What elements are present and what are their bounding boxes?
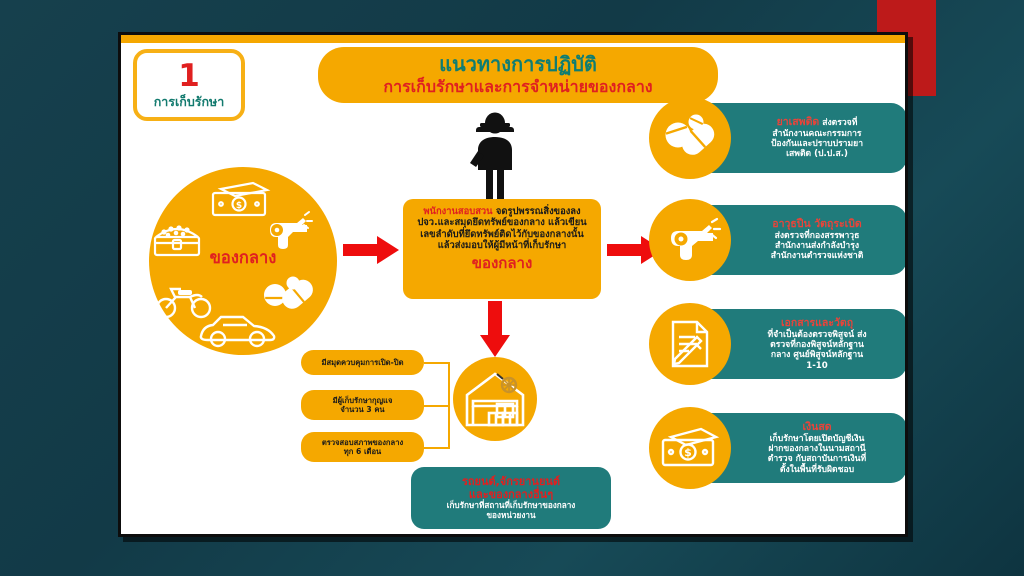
vehicles-storage-line-2: ของหน่วยงาน [486,511,535,521]
category-narcotics-head: ยาเสพติด ส่งตรวจที่ [777,116,858,129]
vehicles-storage-box: รถยนต์,จักรยานยนต์ และของกลางอื่นๆ เก็บร… [411,467,611,529]
process-line-1: พนักงานสอบสวน จดรูปพรรณสิ่งของลง [409,206,595,217]
category-cash-line-3: ตำรวจ กับสถาบันการเงินที่ [768,454,866,464]
vehicles-storage-head-1: รถยนต์,จักรยานยนต์ [462,475,560,488]
pill-connector-3 [424,447,450,449]
category-documents-line-4: 1-10 [806,361,828,371]
category-narcotics-head-suffix: ส่งตรวจที่ [819,118,857,128]
category-documents-line-1: ที่จำเป็นต้องตรวจพิสูจน์ ส่ง [767,330,866,340]
step-number: 1 [178,61,200,92]
seal-lock-icon [497,374,516,392]
document-pen-icon [663,317,717,371]
warehouse-circle [453,357,537,441]
warehouse-icon [453,357,537,441]
process-line-4: แล้วส่งมอบให้ผู้มีหน้าที่เก็บรักษา [409,240,595,251]
category-documents-line-2: ตรวจที่กองพิสูจน์หลักฐาน [770,340,864,350]
category-cash-head: เงินสด [802,421,831,434]
category-firearms-icon-circle [649,199,731,281]
category-documents-head: เอกสารและวัตถุ [781,317,853,330]
category-firearms-head: อาวุธปืน วัตถุระเบิด [772,218,861,231]
revolver-icon [660,218,720,262]
process-description-box: พนักงานสอบสวน จดรูปพรรณสิ่งของลง ปจว.และ… [403,199,601,299]
requirement-pill-2: มีผู้เก็บรักษากุญแจ จำนวน 3 คน [301,390,424,420]
slide-card: 1 การเก็บรักษา แนวทางการปฏิบัติ การเก็บร… [118,32,908,537]
svg-text:$: $ [236,201,242,211]
pills-capsule-icon [661,113,719,163]
treasure-chest-icon [150,217,204,261]
process-line-3: เลขลำดับที่ยึดทรัพย์ติดไว้กับของกลางนั้น [409,229,595,240]
category-cash-icon-circle: $ [649,407,731,489]
category-cash-line-4: ตั้งในพื้นที่รับผิดชอบ [780,465,854,475]
cash-icon: $ [659,426,721,470]
svg-text:$: $ [684,446,692,459]
pill-connector-1 [424,362,450,364]
police-officer-icon [459,111,531,207]
requirement-pill-1: มีสมุดควบคุมการเปิด-ปิด [301,350,424,375]
requirement-pill-2-line-2: จำนวน 3 คน [340,405,384,414]
page-title: แนวทางการปฏิบัติ [439,53,597,76]
category-firearms-line-3: สำนักงานตำรวจแห่งชาติ [771,251,864,261]
requirement-pill-3-line-2: ทุก 6 เดือน [344,447,381,456]
pill-connector-2 [424,405,450,407]
card-top-accent-bar [121,35,905,43]
evidence-circle: ของกลาง $ [149,167,337,355]
category-documents-icon-circle [649,303,731,385]
category-narcotics-line-3: เสพติด (ป.ป.ส.) [786,149,848,159]
category-documents-line-3: กลาง ศูนย์พิสูจน์หลักฐาน [771,350,863,360]
process-line-2: ปจว.และสมุดยึดทรัพย์ของกลาง แล้วเขียน [409,217,595,228]
arrow-process-to-warehouse [479,301,511,357]
category-cash-line-1: เก็บรักษาโดยเปิดบัญชีเงิน [770,434,865,444]
step-badge: 1 การเก็บรักษา [133,49,245,121]
car-icon [195,309,281,349]
requirement-pill-3: ตรวจสอบสภาพของกลาง ทุก 6 เดือน [301,432,424,462]
requirement-pill-3-line-1: ตรวจสอบสภาพของกลาง [322,438,403,447]
category-narcotics-line-2: ป้องกันและปราบปรามยา [771,139,863,149]
process-line-1-rest: จดรูปพรรณสิ่งของลง [493,206,581,217]
step-label: การเก็บรักษา [154,96,225,109]
process-highlight: ของกลาง [409,254,595,272]
category-cash-line-2: ฝากของกลางในนามสถานี [768,444,865,454]
requirement-pill-2-line-1: มีผู้เก็บรักษากุญแจ [333,396,393,405]
requirement-pill-1-line-1: มีสมุดควบคุมการเปิด-ปิด [321,358,403,367]
category-row-cash: เงินสด เก็บรักษาโดยเปิดบัญชีเงิน ฝากของก… [649,407,907,489]
category-firearms-line-1: ส่งตรวจที่กองสรรพาวุธ [775,231,860,241]
page-subtitle: การเก็บรักษาและการจำหน่ายของกลาง [383,78,652,96]
category-narcotics-line-1: สำนักงานคณะกรรมการ [772,129,861,139]
process-line-1-highlight: พนักงานสอบสวน [423,206,492,217]
category-row-firearms: อาวุธปืน วัตถุระเบิด ส่งตรวจที่กองสรรพาว… [649,199,907,281]
revolver-icon [257,211,313,251]
arrow-evidence-to-process [343,235,399,265]
pill-connector-spine [448,362,450,447]
title-pill: แนวทางการปฏิบัติ การเก็บรักษาและการจำหน่… [318,47,718,103]
category-row-narcotics: ยาเสพติด ส่งตรวจที่ สำนักงานคณะกรรมการ ป… [649,97,907,179]
category-narcotics-head-main: ยาเสพติด [777,116,820,128]
category-narcotics-icon-circle [649,97,731,179]
category-row-documents: เอกสารและวัตถุ ที่จำเป็นต้องตรวจพิสูจน์ … [649,303,907,385]
category-firearms-line-2: สำนักงานส่งกำลังบำรุง [775,241,859,251]
